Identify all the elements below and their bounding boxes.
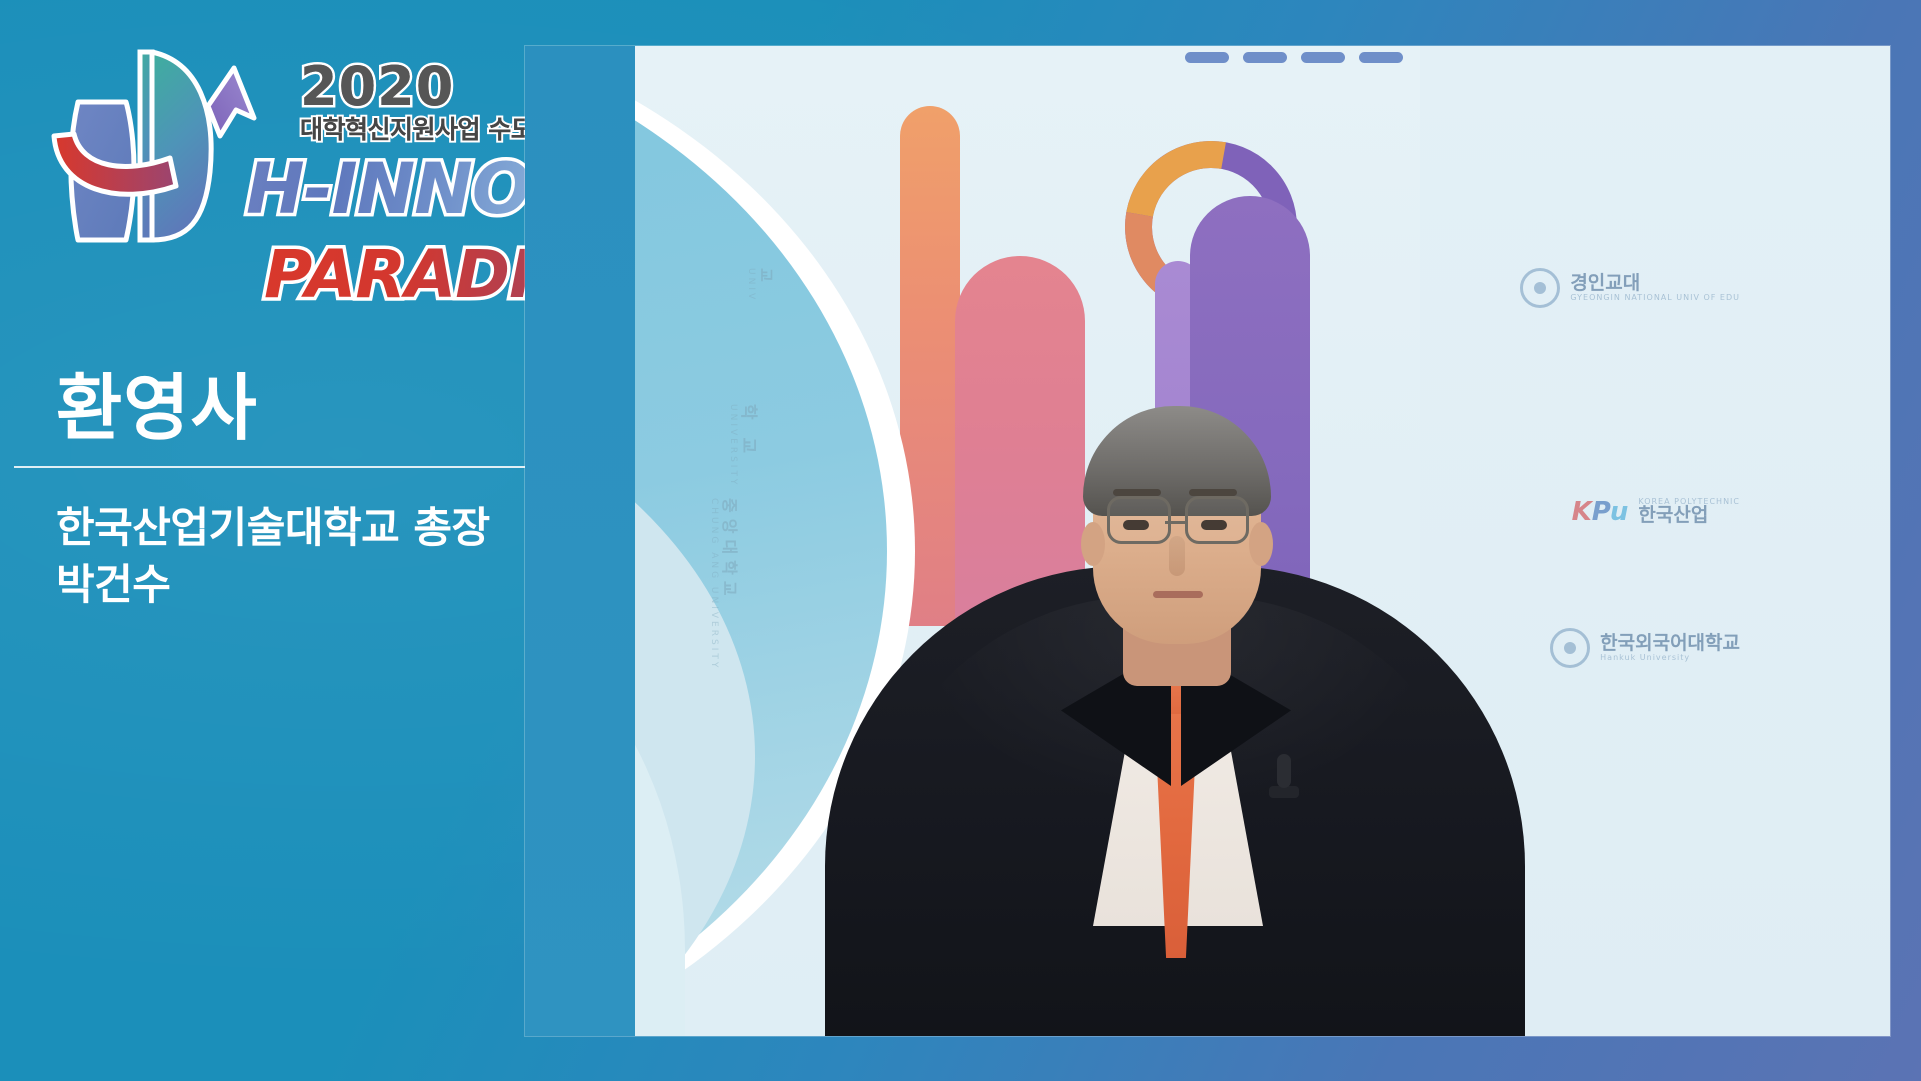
- booth-vertical-text-1: 교 UNIV: [746, 268, 777, 302]
- partner-logo-hufs: 한국외국어대학교 Hankuk University: [1550, 628, 1740, 668]
- h-innovation-symbol-icon: [48, 40, 258, 280]
- glasses-lens-left-icon: [1107, 496, 1171, 544]
- glasses-lens-right-icon: [1185, 496, 1249, 544]
- partner-logo-name: 경인교대: [1570, 272, 1640, 294]
- speaker-ear-right: [1249, 522, 1273, 566]
- speaker-mouth: [1153, 591, 1203, 598]
- partner-logo-kpu: KPu KOREA POLYTECHNIC 한국산업: [1572, 498, 1740, 526]
- forum-year: 2020: [300, 60, 454, 114]
- title-divider: [14, 466, 554, 468]
- page-title: 환영사: [56, 372, 258, 444]
- partner-logo-english: GYEONGIN NATIONAL UNIV OF EDU: [1570, 294, 1740, 302]
- speaker-ear-left: [1081, 522, 1105, 566]
- kpu-wordmark-icon: KPu: [1572, 499, 1629, 525]
- gyeongin-emblem-icon: [1520, 268, 1560, 308]
- dash-decoration: [1185, 52, 1485, 66]
- booth-vertical-text-3: 중앙대학교 CHUNG ANG UNIVERSITY: [709, 498, 743, 670]
- partner-logo-english: Hankuk University: [1600, 654, 1740, 662]
- booth-left-slab: [525, 46, 635, 1036]
- partner-logo-gyeongin: 경인교대 GYEONGIN NATIONAL UNIV OF EDU: [1520, 268, 1740, 308]
- lapel-mic-icon: [1277, 754, 1291, 788]
- video-frame[interactable]: 경인교대 GYEONGIN NATIONAL UNIV OF EDU KPu K…: [525, 46, 1890, 1036]
- speaker-info: 한국산업기술대학교 총장 박건수: [56, 500, 490, 613]
- booth-vertical-text-2: 학 교 UNIVERSITY: [728, 404, 763, 487]
- hufs-emblem-icon: [1550, 628, 1590, 668]
- speaker-eyebrow-right: [1189, 489, 1237, 496]
- speaker-eyebrow-left: [1113, 489, 1161, 496]
- partner-logo-name: 한국산업: [1638, 504, 1708, 526]
- speaker-nose: [1169, 536, 1185, 576]
- speaker-name: 박건수: [56, 557, 490, 614]
- welcome-address-speaker: [825, 176, 1525, 1036]
- partner-logo-name: 한국외국어대학교: [1600, 632, 1740, 654]
- glasses-bridge-icon: [1165, 521, 1187, 524]
- speaker-affiliation: 한국산업기술대학교 총장: [56, 500, 490, 557]
- slide-stage: 2020 2020 대학혁신지원사업 수도권역 성과포럼 대학혁신지원사업 수도…: [0, 0, 1921, 1081]
